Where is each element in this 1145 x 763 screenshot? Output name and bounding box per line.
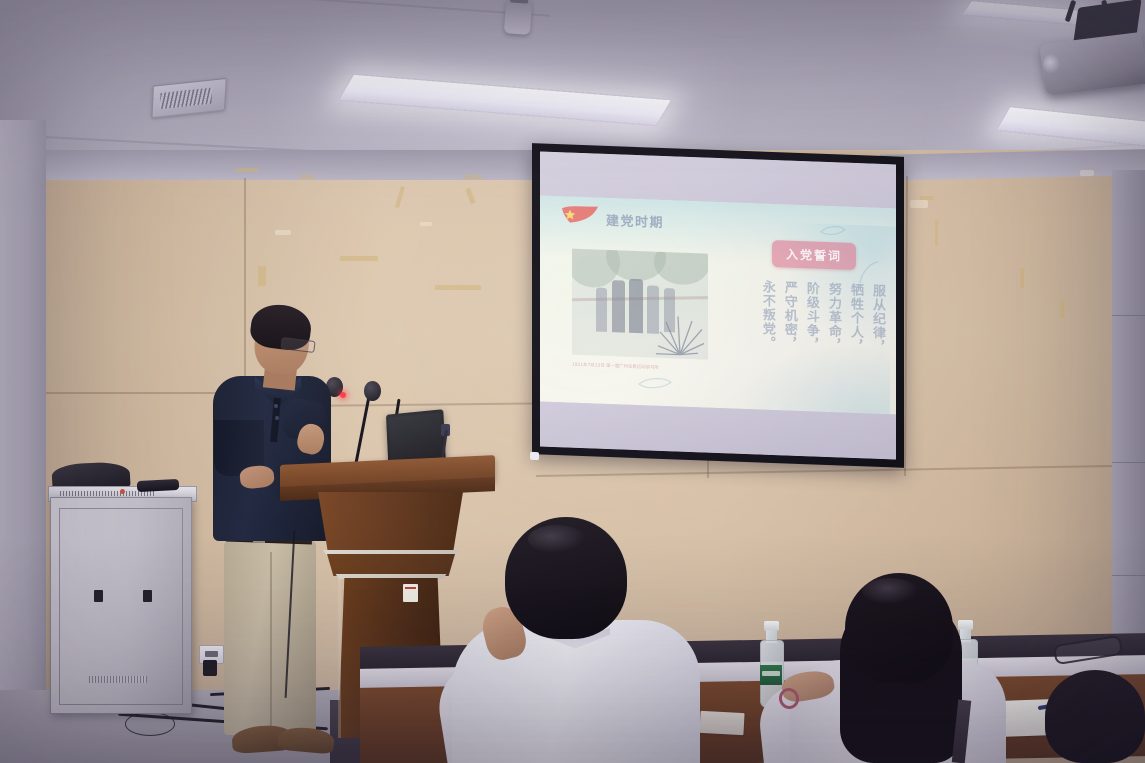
podium-highlight-edge xyxy=(338,578,341,738)
podium-upper-body xyxy=(318,492,463,554)
cabinet-power-led xyxy=(120,489,125,494)
hair-highlight xyxy=(528,525,586,553)
projected-slide: 建党时期 xyxy=(540,195,896,414)
cabinet-handle-right[interactable] xyxy=(143,590,152,602)
wall-upper-grey-band xyxy=(880,149,1145,181)
leaf-doodle-icon xyxy=(638,375,672,390)
microphone-active-led xyxy=(340,392,346,398)
audience-head xyxy=(1045,670,1145,763)
left-wall-column xyxy=(0,120,46,763)
podium-mid-body xyxy=(327,554,455,576)
oath-column: 服从纪律， xyxy=(870,284,884,393)
podium-asset-tag xyxy=(403,584,418,602)
trouser-crease xyxy=(270,552,272,727)
oath-column: 严守机密， xyxy=(782,280,796,389)
oath-column: 努力革命， xyxy=(826,282,840,391)
ceiling-speaker-icon xyxy=(504,0,532,35)
party-oath-columns: 服从纪律， 牺牲个人， 努力革命， 阶级斗争， 严守机密， 永不叛党。 xyxy=(716,278,884,392)
remote-control[interactable] xyxy=(137,479,180,492)
slide-historic-photo xyxy=(572,249,708,360)
projection-screen-surface: 建党时期 xyxy=(540,151,896,459)
projection-screen: 建党时期 xyxy=(532,143,904,468)
swirl-doodle-icon xyxy=(858,259,880,286)
oath-column: 牺牲个人， xyxy=(848,283,862,392)
floor-cable-loop xyxy=(125,712,175,736)
party-oath-badge: 入党誓词 xyxy=(772,240,856,270)
slide-heading: 建党时期 xyxy=(606,210,664,231)
hair-highlight xyxy=(862,578,918,604)
palm-plant xyxy=(654,312,706,358)
power-plug[interactable] xyxy=(203,660,217,676)
desk-papers[interactable] xyxy=(699,711,744,735)
red-flag-icon xyxy=(560,204,600,227)
screen-tension-hook xyxy=(530,452,539,460)
slide-photo-caption: 1921年7月23日 第一届广州农民运动讲习所 xyxy=(572,363,682,373)
av-equipment-cabinet[interactable] xyxy=(50,497,192,714)
cabinet-lower-vent xyxy=(89,676,147,683)
oath-column: 永不叛党。 xyxy=(760,280,774,389)
oath-column: 阶级斗争， xyxy=(804,281,818,390)
leaf-doodle-icon xyxy=(820,224,846,237)
right-wall-column xyxy=(1112,170,1145,640)
cabinet-handle-left[interactable] xyxy=(94,590,103,602)
lecture-hall-photo: 建党时期 xyxy=(0,0,1145,763)
